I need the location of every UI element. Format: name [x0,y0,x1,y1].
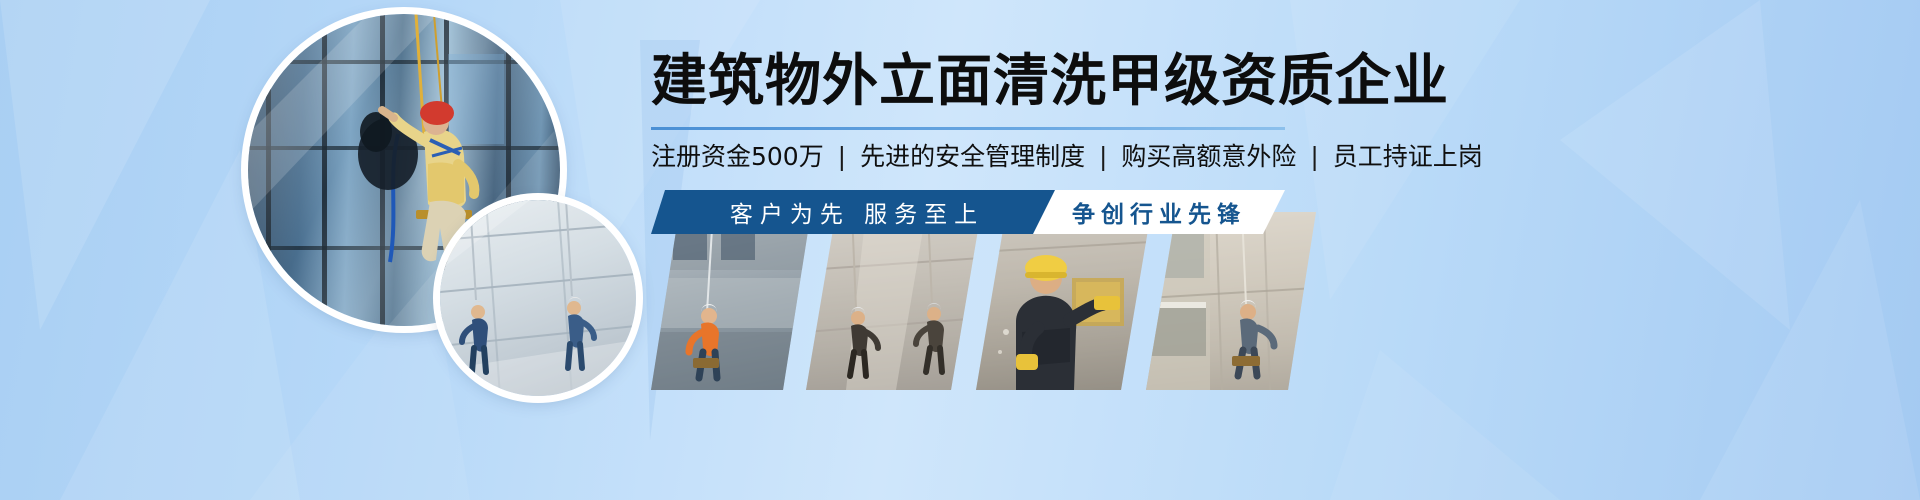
photo-tile-3 [976,212,1151,390]
page-title: 建筑物外立面清洗甲级资质企业 [651,52,1449,112]
slogan-banner: 客户为先 服务至上 争创行业先锋 [651,190,1285,234]
photo-tile-2 [806,212,981,390]
title-divider [651,127,1285,130]
slogan-highlight-text: 争创行业先锋 [1072,195,1246,229]
photo-tile-group [651,212,1285,390]
photo-tile-4 [1146,212,1316,390]
slogan-primary-text: 客户为先 服务至上 [730,195,984,229]
subtitle-separator-3: | [1304,142,1324,171]
subtitle-separator-2: | [1093,142,1113,171]
photo-tile-1 [651,212,811,390]
subtitle-part-3: 购买高额意外险 [1121,142,1296,171]
subtitle-part-1: 注册资金500万 [651,142,824,171]
promo-banner: 建筑物外立面清洗甲级资质企业 注册资金500万 | 先进的安全管理制度 | 购买… [0,0,1920,500]
slogan-highlight: 争创行业先锋 [1033,190,1285,234]
subtitle-part-2: 先进的安全管理制度 [860,142,1085,171]
photo-circle-small [440,200,636,396]
subtitle-part-4: 员工持证上岗 [1333,142,1483,171]
slogan-primary: 客户为先 服务至上 [651,190,1063,234]
subtitle: 注册资金500万 | 先进的安全管理制度 | 购买高额意外险 | 员工持证上岗 [651,142,1483,172]
subtitle-separator-1: | [832,142,852,171]
